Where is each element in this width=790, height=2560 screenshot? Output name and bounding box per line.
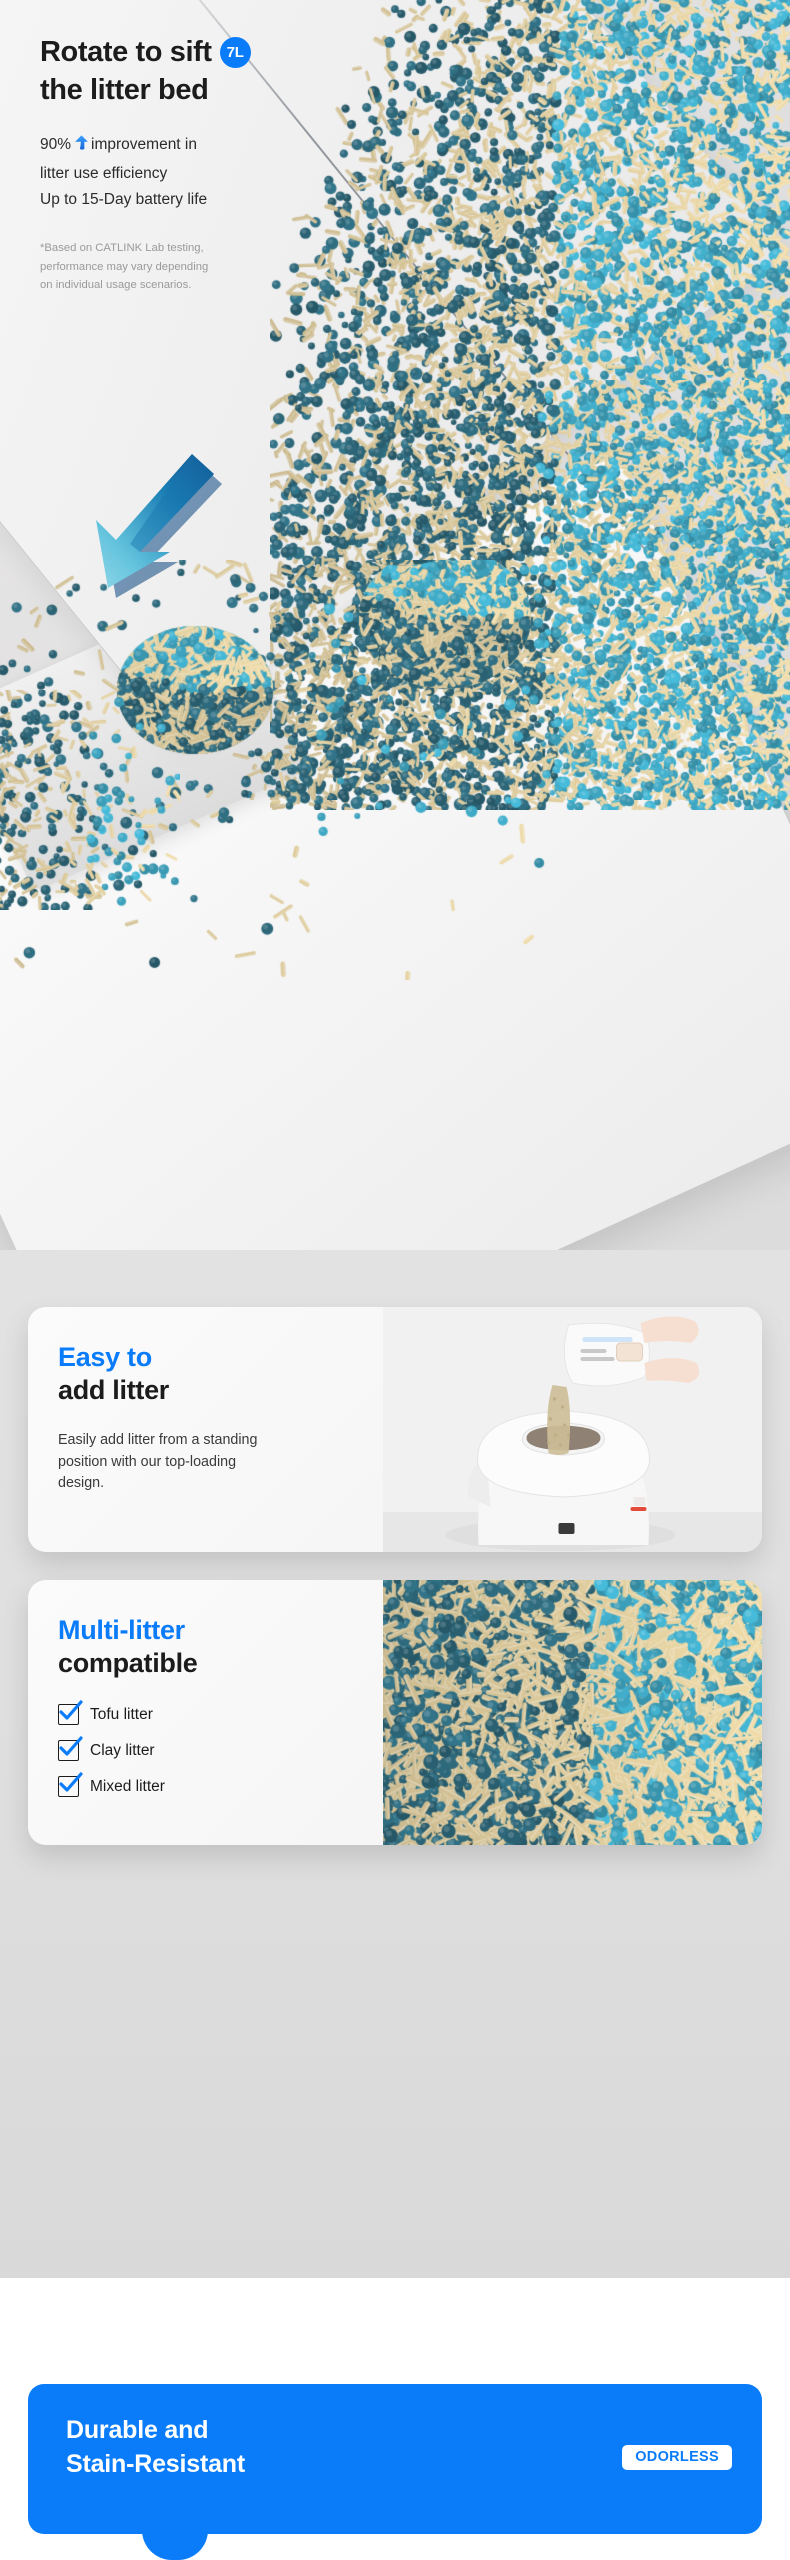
odorless-badge: ODORLESS — [622, 2445, 732, 2470]
bottom-section: Durable and Stain-Resistant ODORLESS — [0, 2278, 790, 2445]
durability-banner: Durable and Stain-Resistant ODORLESS — [28, 2384, 762, 2534]
card-multi-litter: Multi-litter compatible Tofu litter — [28, 1580, 762, 1845]
hero-title: Rotate to sift7L the litter bed — [40, 34, 370, 109]
hero-subtitle: 90% improvement in litter use efficiency… — [40, 132, 370, 213]
card-multi-media — [383, 1580, 762, 1845]
list-item[interactable]: Clay litter — [58, 1733, 383, 1769]
card-multi-heading-accent: Multi-litter — [58, 1614, 383, 1647]
arrow-up-icon — [73, 134, 90, 160]
checkbox-checked-icon[interactable] — [58, 1704, 79, 1725]
litter-type-label: Clay litter — [90, 1742, 155, 1760]
litter-type-label: Tofu litter — [90, 1706, 153, 1724]
card-easy-heading-accent: Easy to — [58, 1341, 383, 1374]
disclaimer-line-2: performance may vary depending — [40, 261, 208, 273]
banner-pointer — [142, 2530, 208, 2560]
hero-disclaimer: *Based on CATLINK Lab testing, performan… — [40, 239, 370, 294]
banner-title-line-1: Durable and — [66, 2416, 208, 2444]
hero-subtitle-line-2: litter use efficiency — [40, 165, 167, 182]
disclaimer-line-1: *Based on CATLINK Lab testing, — [40, 242, 204, 254]
hero-copy: Rotate to sift7L the litter bed 90% impr… — [40, 34, 370, 294]
hero-title-line-1: Rotate to sift — [40, 36, 212, 68]
card-multi-heading: Multi-litter compatible — [58, 1614, 383, 1681]
list-item[interactable]: Tofu litter — [58, 1697, 383, 1733]
card-easy-paragraph: Easily add litter from a standing positi… — [58, 1430, 273, 1495]
card-multi-heading-plain: compatible — [58, 1647, 383, 1680]
card-easy-text: Easy to add litter Easily add litter fro… — [28, 1307, 383, 1552]
capacity-badge: 7L — [220, 37, 251, 68]
banner-title-line-2: Stain-Resistant — [66, 2450, 245, 2478]
disclaimer-line-3: on individual usage scenarios. — [40, 279, 191, 291]
card-easy-heading-plain: add litter — [58, 1374, 383, 1407]
hero-subtitle-line-3: Up to 15-Day battery life — [40, 191, 207, 208]
card-easy-heading: Easy to add litter — [58, 1341, 383, 1408]
down-left-arrow-icon — [78, 452, 228, 605]
list-item[interactable]: Mixed litter — [58, 1769, 383, 1805]
hero-section: Rotate to sift7L the litter bed 90% impr… — [0, 0, 790, 1250]
litter-box-pouring-photo — [383, 1307, 762, 1552]
checkbox-checked-icon[interactable] — [58, 1776, 79, 1797]
efficiency-text: improvement in — [91, 136, 197, 153]
litter-type-list: Tofu litter Clay litter Mixed litter — [58, 1697, 383, 1805]
card-multi-text: Multi-litter compatible Tofu litter — [28, 1580, 383, 1845]
litter-type-label: Mixed litter — [90, 1778, 165, 1796]
banner-title: Durable and Stain-Resistant — [66, 2414, 245, 2481]
mixed-litter-photo — [383, 1580, 762, 1845]
card-easy-media — [383, 1307, 762, 1552]
card-easy-add-litter: Easy to add litter Easily add litter fro… — [28, 1307, 762, 1552]
efficiency-value: 90% — [40, 136, 71, 153]
feature-cards-section: Easy to add litter Easily add litter fro… — [0, 1250, 790, 2278]
hero-title-line-2: the litter bed — [40, 74, 208, 106]
checkbox-checked-icon[interactable] — [58, 1740, 79, 1761]
